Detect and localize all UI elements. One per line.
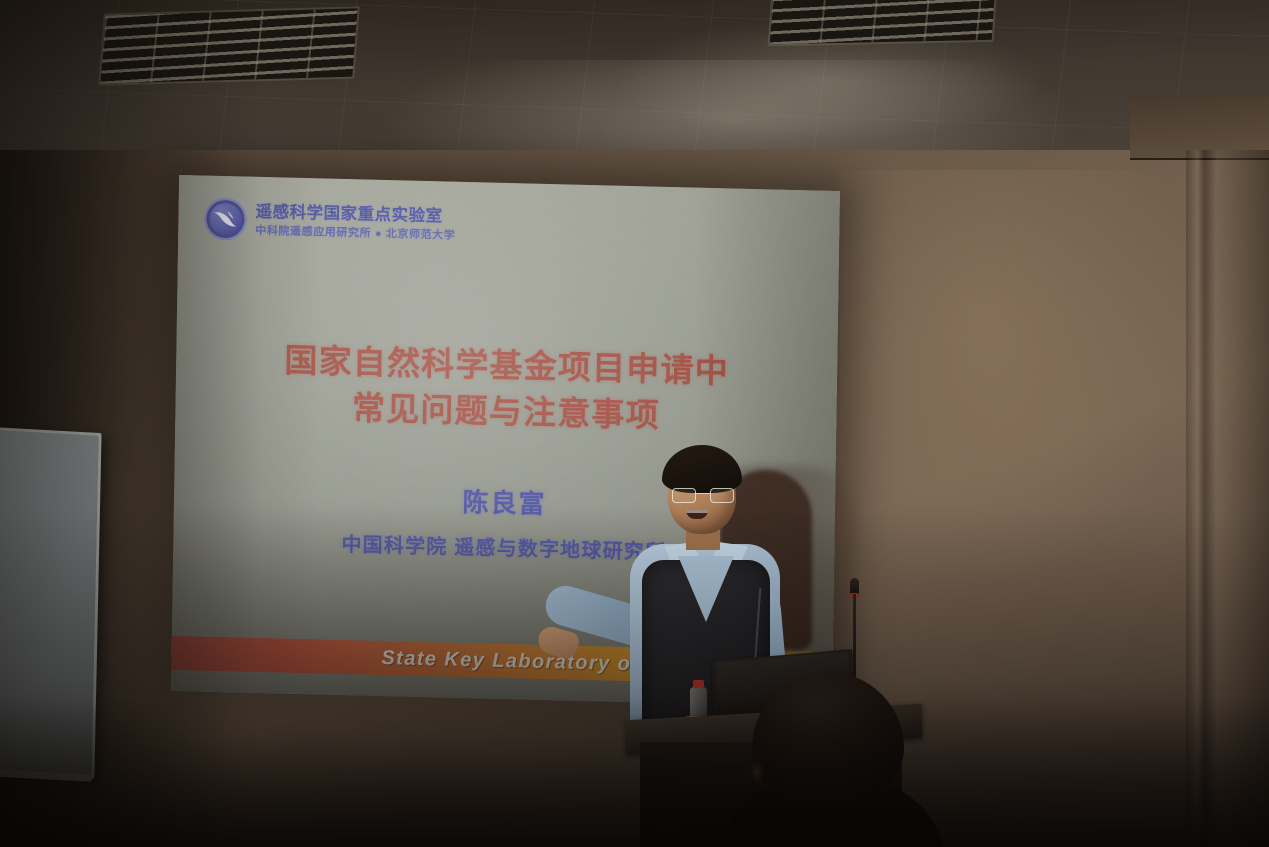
slide-header: 遥感科学国家重点实验室 中科院遥感应用研究所 ● 北京师范大学 bbox=[204, 198, 456, 246]
glasses-bridge bbox=[695, 493, 711, 494]
slide-title: 国家自然科学基金项目申请中 常见问题与注意事项 bbox=[175, 335, 837, 442]
state-key-lab-seal-logo-icon bbox=[204, 198, 247, 241]
glasses-lens-right bbox=[710, 488, 734, 503]
vent-ribs bbox=[100, 8, 357, 83]
glasses-lens-left bbox=[672, 488, 696, 503]
vent-ribs bbox=[770, 0, 996, 44]
speaker-hair bbox=[662, 445, 742, 493]
lab-name-text: 遥感科学国家重点实验室 bbox=[255, 203, 455, 226]
swoosh-bird-icon bbox=[212, 210, 238, 229]
lecture-room-scene: 遥感科学国家重点实验室 中科院遥感应用研究所 ● 北京师范大学 国家自然科学基金… bbox=[0, 0, 1269, 847]
room-bottom-shadow bbox=[0, 507, 1269, 847]
air-vent-left-icon bbox=[100, 8, 357, 83]
lab-title-block: 遥感科学国家重点实验室 中科院遥感应用研究所 ● 北京师范大学 bbox=[255, 203, 456, 242]
air-vent-right-icon bbox=[770, 0, 996, 44]
glasses-icon bbox=[672, 488, 734, 501]
lab-affiliation-text: 中科院遥感应用研究所 ● 北京师范大学 bbox=[255, 224, 455, 241]
